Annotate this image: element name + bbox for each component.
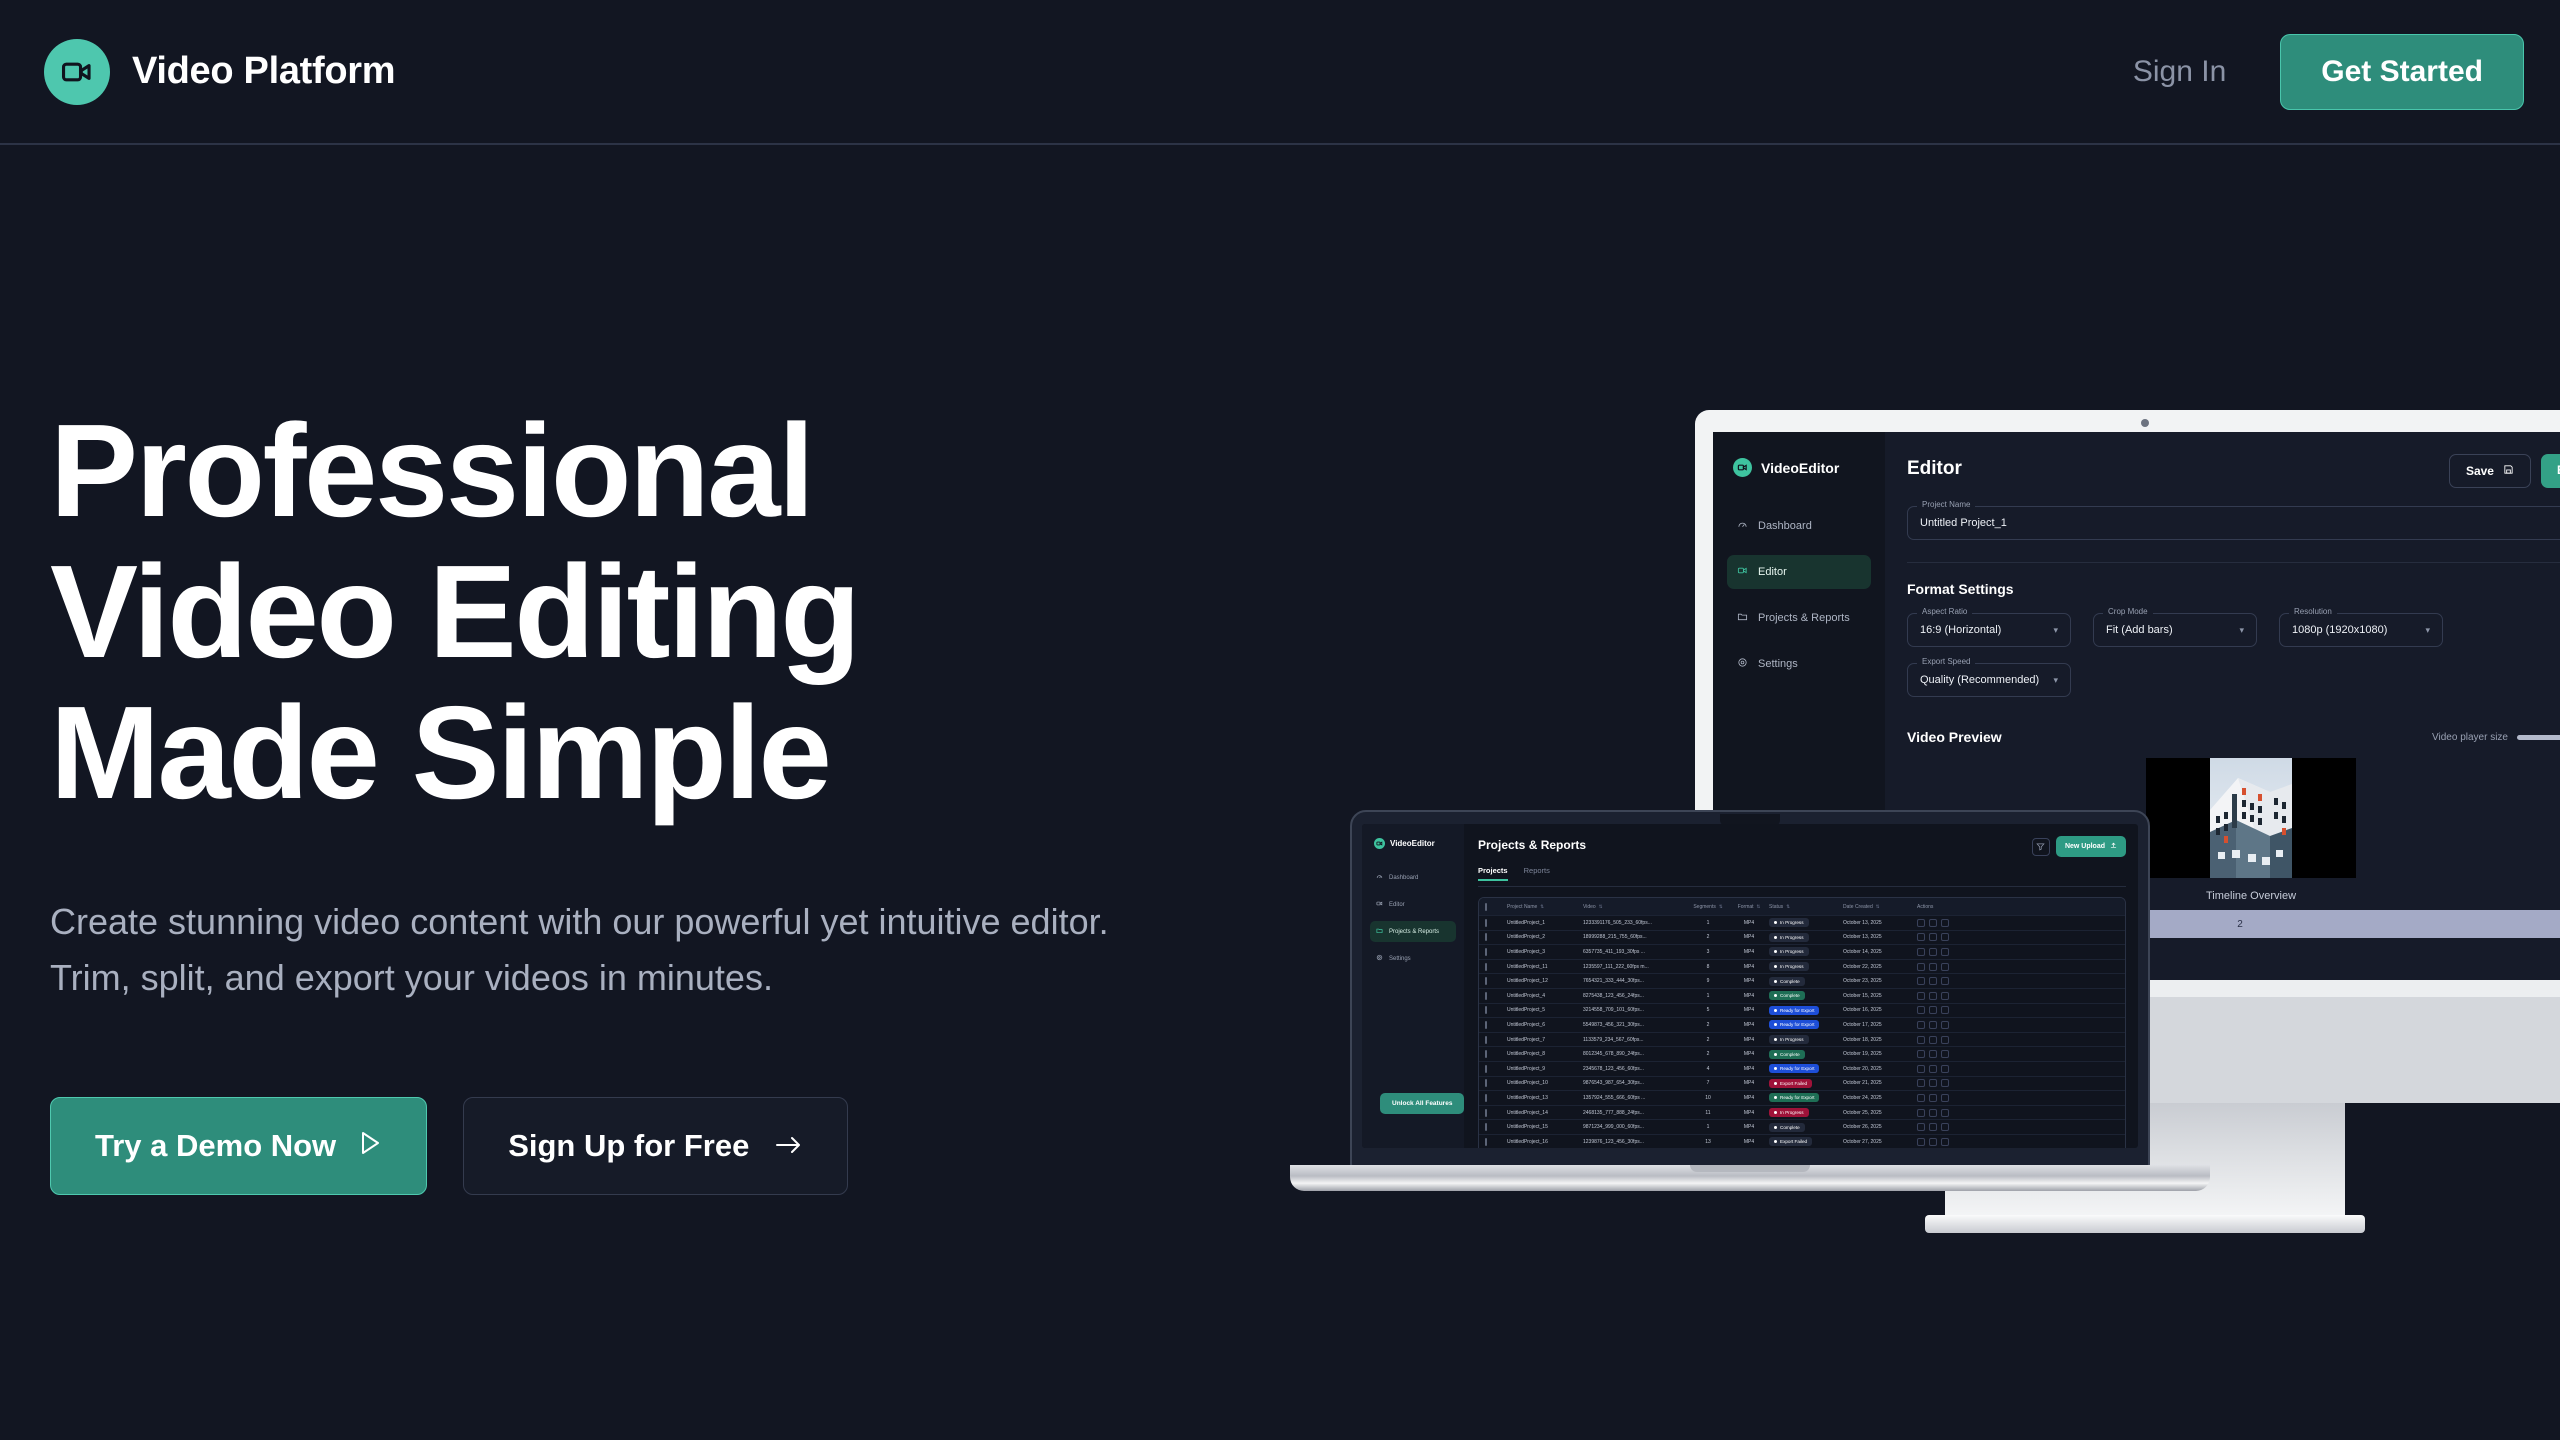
col-status[interactable]: Status⇅ <box>1769 904 1843 910</box>
cell-status: In Progress <box>1769 1035 1843 1044</box>
edit-icon[interactable] <box>1917 948 1925 956</box>
delete-icon[interactable] <box>1941 1006 1949 1014</box>
cell-video: 1133579_234_567_60fps... <box>1583 1037 1687 1043</box>
edit-icon[interactable] <box>1917 1065 1925 1073</box>
cell-format: MP4 <box>1729 1022 1769 1028</box>
cell-segments: 2 <box>1687 1037 1729 1043</box>
cell-actions <box>1917 1079 1965 1087</box>
cell-segments: 11 <box>1687 1110 1729 1116</box>
cell-status: Complete <box>1769 977 1843 986</box>
row-checkbox[interactable] <box>1485 1110 1507 1116</box>
table-row[interactable]: UntitledProject_142468135_777_888_24fps.… <box>1479 1106 2125 1121</box>
table-row[interactable]: UntitledProject_53214558_709_101_60fps..… <box>1479 1004 2125 1019</box>
cell-video: 1233391176_505_233_60fps... <box>1583 920 1687 926</box>
cell-date-created: October 13, 2025 <box>1843 934 1917 940</box>
video-player-size-slider[interactable] <box>2517 735 2560 740</box>
format-settings-row-2: Export Speed Quality (Recommended) ▾ <box>1907 647 2560 697</box>
video-camera-icon <box>1376 900 1383 909</box>
table-body: UntitledProject_11233391176_505_233_60fp… <box>1479 916 2125 1148</box>
brand-logo[interactable]: Video Platform <box>44 39 395 105</box>
cell-segments: 9 <box>1687 978 1729 984</box>
row-checkbox[interactable] <box>1485 920 1507 926</box>
cell-segments: 8 <box>1687 964 1729 970</box>
sidebar-label: Dashboard <box>1389 875 1418 881</box>
video-player-size-control[interactable]: Video player size <box>2432 732 2560 743</box>
table-row[interactable]: UntitledProject_127654321_333_444_30fps.… <box>1479 974 2125 989</box>
table-row[interactable]: UntitledProject_111235597_111_222_60fps … <box>1479 960 2125 975</box>
cell-video: 9876543_987_654_30fps... <box>1583 1080 1687 1086</box>
sidebar-label: Dashboard <box>1758 520 1812 532</box>
cell-date-created: October 22, 2025 <box>1843 964 1917 970</box>
chevron-down-icon: ▾ <box>2053 675 2058 686</box>
status-badge: In Progress <box>1769 918 1809 927</box>
edit-icon[interactable] <box>1917 1021 1925 1029</box>
projects-brand-name: VideoEditor <box>1390 839 1435 848</box>
col-actions: Actions <box>1917 904 1965 910</box>
unlock-all-features-button[interactable]: Unlock All Features <box>1380 1093 1464 1114</box>
cell-project-name: UntitledProject_8 <box>1507 1051 1583 1057</box>
cell-format: MP4 <box>1729 920 1769 926</box>
sidebar-label: Settings <box>1758 658 1798 670</box>
aspect-ratio-label: Aspect Ratio <box>1917 607 1972 616</box>
divider <box>1907 562 2560 563</box>
row-checkbox[interactable] <box>1485 1095 1507 1101</box>
cell-format: MP4 <box>1729 978 1769 984</box>
cell-project-name: UntitledProject_13 <box>1507 1095 1583 1101</box>
building-photo <box>2210 758 2292 878</box>
page-title: Professional Video Editing Made Simple <box>50 400 1150 824</box>
cell-format: MP4 <box>1729 1037 1769 1043</box>
edit-icon[interactable] <box>1917 919 1925 927</box>
select-all-checkbox[interactable] <box>1485 904 1507 910</box>
table-row[interactable]: UntitledProject_131357924_555_666_60fps … <box>1479 1091 2125 1106</box>
sort-icon: ⇅ <box>1876 904 1880 909</box>
cell-format: MP4 <box>1729 1080 1769 1086</box>
sort-icon: ⇅ <box>1719 904 1723 909</box>
upload-icon <box>2110 842 2117 851</box>
cell-project-name: UntitledProject_4 <box>1507 993 1583 999</box>
cell-project-name: UntitledProject_16 <box>1507 1139 1583 1145</box>
col-video[interactable]: Video⇅ <box>1583 904 1687 910</box>
download-icon[interactable] <box>1929 1123 1937 1131</box>
cell-format: MP4 <box>1729 949 1769 955</box>
edit-icon[interactable] <box>1917 1123 1925 1131</box>
sort-icon: ⇅ <box>1757 904 1761 909</box>
cell-format: MP4 <box>1729 1051 1769 1057</box>
status-badge: Ready for Export <box>1769 1006 1819 1015</box>
cell-date-created: October 20, 2025 <box>1843 1066 1917 1072</box>
cell-segments: 1 <box>1687 993 1729 999</box>
cell-segments: 3 <box>1687 949 1729 955</box>
status-badge: In Progress <box>1769 933 1809 942</box>
arrow-right-icon <box>775 1128 803 1164</box>
cell-project-name: UntitledProject_1 <box>1507 920 1583 926</box>
cell-project-name: UntitledProject_11 <box>1507 964 1583 970</box>
delete-icon[interactable] <box>1941 977 1949 985</box>
crop-mode-select[interactable]: Crop Mode Fit (Add bars) ▾ <box>2093 613 2257 647</box>
edit-icon[interactable] <box>1917 1050 1925 1058</box>
video-preview-frame <box>2146 758 2356 878</box>
delete-icon[interactable] <box>1941 1109 1949 1117</box>
table-row[interactable]: UntitledProject_109876543_987_654_30fps.… <box>1479 1077 2125 1092</box>
sidebar-label: Editor <box>1758 566 1787 578</box>
delete-icon[interactable] <box>1941 919 1949 927</box>
row-checkbox[interactable] <box>1485 978 1507 984</box>
table-row[interactable]: UntitledProject_159871234_999_000_60fps.… <box>1479 1120 2125 1135</box>
video-camera-icon <box>1374 838 1385 849</box>
cell-format: MP4 <box>1729 964 1769 970</box>
try-demo-button[interactable]: Try a Demo Now <box>50 1097 427 1195</box>
cell-status: In Progress <box>1769 962 1843 971</box>
cell-format: MP4 <box>1729 934 1769 940</box>
cell-date-created: October 18, 2025 <box>1843 1037 1917 1043</box>
aspect-ratio-select[interactable]: Aspect Ratio 16:9 (Horizontal) ▾ <box>1907 613 2071 647</box>
format-settings-title: Format Settings <box>1907 581 2560 597</box>
table-row[interactable]: UntitledProject_92345678_123_456_60fps..… <box>1479 1062 2125 1077</box>
edit-icon[interactable] <box>1917 1079 1925 1087</box>
table-header-row: Project Name⇅ Video⇅ Segments⇅ Format⇅ S… <box>1479 898 2125 916</box>
cell-format: MP4 <box>1729 1139 1769 1145</box>
cell-actions <box>1917 1123 1965 1131</box>
try-demo-label: Try a Demo Now <box>95 1128 336 1164</box>
save-button[interactable]: Save <box>2449 454 2531 488</box>
edit-icon[interactable] <box>1917 1138 1925 1146</box>
cell-segments: 5 <box>1687 1007 1729 1013</box>
cell-status: In Progress <box>1769 1108 1843 1117</box>
download-icon[interactable] <box>1929 1079 1937 1087</box>
chevron-down-icon: ▾ <box>2425 625 2430 636</box>
cell-video: 3214558_709_101_60fps... <box>1583 1007 1687 1013</box>
cell-date-created: October 16, 2025 <box>1843 1007 1917 1013</box>
device-mockups: VideoEditor Dashboard Editor <box>1350 380 2560 1210</box>
delete-icon[interactable] <box>1941 1021 1949 1029</box>
monitor-foot <box>1925 1215 2365 1233</box>
cell-status: Ready for Export <box>1769 1093 1843 1102</box>
status-badge: In Progress <box>1769 962 1809 971</box>
row-checkbox[interactable] <box>1485 993 1507 999</box>
cell-project-name: UntitledProject_3 <box>1507 949 1583 955</box>
cell-format: MP4 <box>1729 1066 1769 1072</box>
projects-header-actions: New Upload <box>2032 836 2126 857</box>
table-row[interactable]: UntitledProject_48275438_123_456_24fps..… <box>1479 989 2125 1004</box>
row-checkbox[interactable] <box>1485 1139 1507 1145</box>
speedometer-icon <box>1737 519 1748 533</box>
project-name-label: Project Name <box>1917 500 1975 509</box>
sign-in-link[interactable]: Sign In <box>2133 55 2226 89</box>
download-icon[interactable] <box>1929 977 1937 985</box>
new-upload-button[interactable]: New Upload <box>2056 836 2126 857</box>
speedometer-icon <box>1376 873 1383 882</box>
cell-status: Ready for Export <box>1769 1020 1843 1029</box>
table-row[interactable]: UntitledProject_36357735_411_193_30fps .… <box>1479 945 2125 960</box>
download-icon[interactable] <box>1929 1021 1937 1029</box>
cell-segments: 4 <box>1687 1066 1729 1072</box>
cell-status: In Progress <box>1769 947 1843 956</box>
edit-icon[interactable] <box>1917 1094 1925 1102</box>
edit-icon[interactable] <box>1917 1109 1925 1117</box>
hero-title-line-3: Made Simple <box>50 682 1150 823</box>
cell-status: Complete <box>1769 1050 1843 1059</box>
status-badge: In Progress <box>1769 1108 1809 1117</box>
download-icon[interactable] <box>1929 948 1937 956</box>
cell-actions <box>1917 1065 1965 1073</box>
cell-video: 1357924_555_666_60fps ... <box>1583 1095 1687 1101</box>
row-checkbox[interactable] <box>1485 934 1507 940</box>
download-icon[interactable] <box>1929 1006 1937 1014</box>
cell-video: 8012345_678_890_24fps... <box>1583 1051 1687 1057</box>
projects-table: Project Name⇅ Video⇅ Segments⇅ Format⇅ S… <box>1478 897 2126 1148</box>
row-checkbox[interactable] <box>1485 1066 1507 1072</box>
row-checkbox[interactable] <box>1485 1037 1507 1043</box>
delete-icon[interactable] <box>1941 948 1949 956</box>
cell-date-created: October 26, 2025 <box>1843 1124 1917 1130</box>
video-camera-icon <box>1733 458 1752 477</box>
sidebar-label: Projects & Reports <box>1758 612 1850 624</box>
table-row[interactable]: UntitledProject_71133579_234_567_60fps..… <box>1479 1033 2125 1048</box>
cell-segments: 2 <box>1687 1051 1729 1057</box>
row-checkbox[interactable] <box>1485 1051 1507 1057</box>
resolution-select[interactable]: Resolution 1080p (1920x1080) ▾ <box>2279 613 2443 647</box>
sign-up-free-button[interactable]: Sign Up for Free <box>463 1097 848 1195</box>
edit-icon[interactable] <box>1917 933 1925 941</box>
chevron-down-icon: ▾ <box>2053 625 2058 636</box>
download-icon[interactable] <box>1929 1036 1937 1044</box>
cell-video: 7654321_333_444_30fps... <box>1583 978 1687 984</box>
play-triangle-icon <box>358 1128 382 1164</box>
sidebar-label: Editor <box>1389 902 1405 908</box>
cell-segments: 1 <box>1687 1124 1729 1130</box>
crop-mode-label: Crop Mode <box>2103 607 2153 616</box>
cell-format: MP4 <box>1729 1124 1769 1130</box>
cell-actions <box>1917 933 1965 941</box>
status-badge: Ready for Export <box>1769 1020 1819 1029</box>
save-label: Save <box>2466 464 2494 478</box>
delete-icon[interactable] <box>1941 963 1949 971</box>
delete-icon[interactable] <box>1941 1123 1949 1131</box>
cell-actions <box>1917 977 1965 985</box>
cell-video: 1235597_111_222_60fps m... <box>1583 964 1687 970</box>
col-format[interactable]: Format⇅ <box>1729 904 1769 910</box>
sidebar-item-dashboard[interactable]: Dashboard <box>1370 867 1456 888</box>
export-speed-select[interactable]: Export Speed Quality (Recommended) ▾ <box>1907 663 2071 697</box>
format-settings-row-1: Aspect Ratio 16:9 (Horizontal) ▾ Crop Mo… <box>1907 597 2560 647</box>
cell-date-created: October 27, 2025 <box>1843 1139 1917 1145</box>
video-camera-icon <box>1737 565 1748 579</box>
cell-date-created: October 23, 2025 <box>1843 978 1917 984</box>
download-icon[interactable] <box>1929 1065 1937 1073</box>
cell-project-name: UntitledProject_5 <box>1507 1007 1583 1013</box>
aspect-ratio-value: 16:9 (Horizontal) <box>1920 624 2001 636</box>
projects-brand[interactable]: VideoEditor <box>1370 838 1456 849</box>
status-badge: In Progress <box>1769 1035 1809 1044</box>
projects-app: VideoEditor Dashboard Editor Projects & … <box>1362 824 2138 1148</box>
download-icon[interactable] <box>1929 919 1937 927</box>
video-preview-header: Video Preview Video player size <box>1907 729 2560 745</box>
cell-format: MP4 <box>1729 1110 1769 1116</box>
projects-main: Projects & Reports New Upload <box>1464 824 2138 1148</box>
delete-icon[interactable] <box>1941 992 1949 1000</box>
edit-icon[interactable] <box>1917 977 1925 985</box>
hero-subtitle: Create stunning video content with our p… <box>50 894 1110 1006</box>
gear-icon <box>1376 954 1383 963</box>
cell-video: 18999288_215_755_60fps... <box>1583 934 1687 940</box>
floppy-disk-icon <box>2503 464 2514 478</box>
cell-status: Export Failed <box>1769 1079 1843 1088</box>
edit-icon[interactable] <box>1917 1006 1925 1014</box>
hero-section: Professional Video Editing Made Simple C… <box>50 400 1150 1195</box>
cell-status: Ready for Export <box>1769 1064 1843 1073</box>
row-checkbox[interactable] <box>1485 1124 1507 1130</box>
cell-segments: 7 <box>1687 1080 1729 1086</box>
video-camera-icon <box>44 39 110 105</box>
tab-projects[interactable]: Projects <box>1478 866 1508 881</box>
download-icon[interactable] <box>1929 933 1937 941</box>
download-icon[interactable] <box>1929 1138 1937 1146</box>
export-speed-value: Quality (Recommended) <box>1920 674 2039 686</box>
cell-video: 9871234_999_000_60fps... <box>1583 1124 1687 1130</box>
cell-segments: 2 <box>1687 934 1729 940</box>
resolution-value: 1080p (1920x1080) <box>2292 624 2387 636</box>
cell-project-name: UntitledProject_9 <box>1507 1066 1583 1072</box>
export-speed-label: Export Speed <box>1917 657 1975 666</box>
cell-date-created: October 21, 2025 <box>1843 1080 1917 1086</box>
table-row[interactable]: UntitledProject_161239876_123_456_30fps.… <box>1479 1135 2125 1148</box>
status-badge: In Progress <box>1769 947 1809 956</box>
sidebar-item-settings[interactable]: Settings <box>1370 948 1456 969</box>
hero-actions: Try a Demo Now Sign Up for Free <box>50 1097 1150 1195</box>
tab-reports[interactable]: Reports <box>1524 866 1550 881</box>
table-row[interactable]: UntitledProject_65549873_456_321_30fps..… <box>1479 1018 2125 1033</box>
cell-video: 1239876_123_456_30fps... <box>1583 1139 1687 1145</box>
get-started-button[interactable]: Get Started <box>2280 34 2524 110</box>
cell-actions <box>1917 1036 1965 1044</box>
row-checkbox[interactable] <box>1485 949 1507 955</box>
resolution-label: Resolution <box>2289 607 2337 616</box>
delete-icon[interactable] <box>1941 1079 1949 1087</box>
laptop-base <box>1290 1165 2210 1191</box>
edit-icon[interactable] <box>1917 963 1925 971</box>
sidebar-label: Projects & Reports <box>1389 929 1439 935</box>
projects-tabs: Projects Reports <box>1478 866 2126 887</box>
cell-video: 5549873_456_321_30fps... <box>1583 1022 1687 1028</box>
row-checkbox[interactable] <box>1485 1007 1507 1013</box>
video-preview-thumbnail <box>2210 758 2292 878</box>
cell-segments: 2 <box>1687 1022 1729 1028</box>
webcam-icon <box>2141 419 2149 427</box>
cell-actions <box>1917 1050 1965 1058</box>
gear-icon <box>1737 657 1748 671</box>
editor-top-actions: Save Exp <box>2449 454 2560 488</box>
cell-date-created: October 13, 2025 <box>1843 920 1917 926</box>
status-badge: Complete <box>1769 1050 1805 1059</box>
cell-actions <box>1917 963 1965 971</box>
cell-project-name: UntitledProject_2 <box>1507 934 1583 940</box>
cell-status: In Progress <box>1769 933 1843 942</box>
export-button[interactable]: Exp <box>2541 454 2560 488</box>
delete-icon[interactable] <box>1941 1036 1949 1044</box>
cell-status: Ready for Export <box>1769 1006 1843 1015</box>
filter-funnel-icon[interactable] <box>2032 838 2050 856</box>
row-checkbox[interactable] <box>1485 1022 1507 1028</box>
cell-project-name: UntitledProject_14 <box>1507 1110 1583 1116</box>
edit-icon[interactable] <box>1917 1036 1925 1044</box>
sidebar-item-projects-reports[interactable]: Projects & Reports <box>1370 921 1456 942</box>
editor-brand[interactable]: VideoEditor <box>1727 458 1871 477</box>
cell-video: 2345678_123_456_60fps... <box>1583 1066 1687 1072</box>
folder-icon <box>1737 611 1748 625</box>
delete-icon[interactable] <box>1941 1050 1949 1058</box>
sidebar-item-editor[interactable]: Editor <box>1370 894 1456 915</box>
cell-status: Export Failed <box>1769 1137 1843 1146</box>
site-header: Video Platform Sign In Get Started <box>0 0 2560 145</box>
cell-actions <box>1917 992 1965 1000</box>
new-upload-label: New Upload <box>2065 843 2105 850</box>
sidebar-item-dashboard[interactable]: Dashboard <box>1727 509 1871 543</box>
sign-up-label: Sign Up for Free <box>508 1128 749 1164</box>
hero-title-line-1: Professional <box>50 400 1150 541</box>
download-icon[interactable] <box>1929 992 1937 1000</box>
cell-date-created: October 19, 2025 <box>1843 1051 1917 1057</box>
sidebar-item-projects-reports[interactable]: Projects & Reports <box>1727 601 1871 635</box>
sidebar-label: Settings <box>1389 956 1411 962</box>
delete-icon[interactable] <box>1941 933 1949 941</box>
col-project-name[interactable]: Project Name⇅ <box>1507 904 1583 910</box>
sort-icon: ⇅ <box>1540 904 1544 909</box>
table-row[interactable]: UntitledProject_88012345_678_890_24fps..… <box>1479 1047 2125 1062</box>
laptop-screen: VideoEditor Dashboard Editor Projects & … <box>1362 824 2138 1148</box>
table-row[interactable]: UntitledProject_11233391176_505_233_60fp… <box>1479 916 2125 931</box>
sidebar-item-settings[interactable]: Settings <box>1727 647 1871 681</box>
video-player-size-label: Video player size <box>2432 732 2508 743</box>
project-name-value: Untitled Project_1 <box>1920 517 2007 529</box>
cell-project-name: UntitledProject_7 <box>1507 1037 1583 1043</box>
download-icon[interactable] <box>1929 1050 1937 1058</box>
status-badge: Export Failed <box>1769 1137 1812 1146</box>
sort-icon: ⇅ <box>1599 904 1603 909</box>
edit-icon[interactable] <box>1917 992 1925 1000</box>
row-checkbox[interactable] <box>1485 964 1507 970</box>
table-row[interactable]: UntitledProject_218999288_215_755_60fps.… <box>1479 931 2125 946</box>
download-icon[interactable] <box>1929 963 1937 971</box>
cell-date-created: October 15, 2025 <box>1843 993 1917 999</box>
cell-actions <box>1917 1109 1965 1117</box>
cell-actions <box>1917 1138 1965 1146</box>
cell-project-name: UntitledProject_15 <box>1507 1124 1583 1130</box>
crop-mode-value: Fit (Add bars) <box>2106 624 2173 636</box>
delete-icon[interactable] <box>1941 1065 1949 1073</box>
brand-title: Video Platform <box>132 50 395 93</box>
cell-actions <box>1917 1021 1965 1029</box>
col-date-created[interactable]: Date Created⇅ <box>1843 904 1917 910</box>
delete-icon[interactable] <box>1941 1138 1949 1146</box>
project-name-field[interactable]: Project Name Untitled Project_1 <box>1907 506 2560 540</box>
cell-status: Complete <box>1769 991 1843 1000</box>
cell-project-name: UntitledProject_12 <box>1507 978 1583 984</box>
delete-icon[interactable] <box>1941 1094 1949 1102</box>
cell-format: MP4 <box>1729 1095 1769 1101</box>
cell-date-created: October 14, 2025 <box>1843 949 1917 955</box>
laptop-trackpad-notch <box>1690 1165 1810 1172</box>
laptop-device: VideoEditor Dashboard Editor Projects & … <box>1350 810 2150 1170</box>
status-badge: Ready for Export <box>1769 1093 1819 1102</box>
download-icon[interactable] <box>1929 1109 1937 1117</box>
row-checkbox[interactable] <box>1485 1080 1507 1086</box>
sidebar-item-editor[interactable]: Editor <box>1727 555 1871 589</box>
col-segments[interactable]: Segments⇅ <box>1687 904 1729 910</box>
cell-video: 8275438_123_456_24fps... <box>1583 993 1687 999</box>
cell-format: MP4 <box>1729 993 1769 999</box>
download-icon[interactable] <box>1929 1094 1937 1102</box>
